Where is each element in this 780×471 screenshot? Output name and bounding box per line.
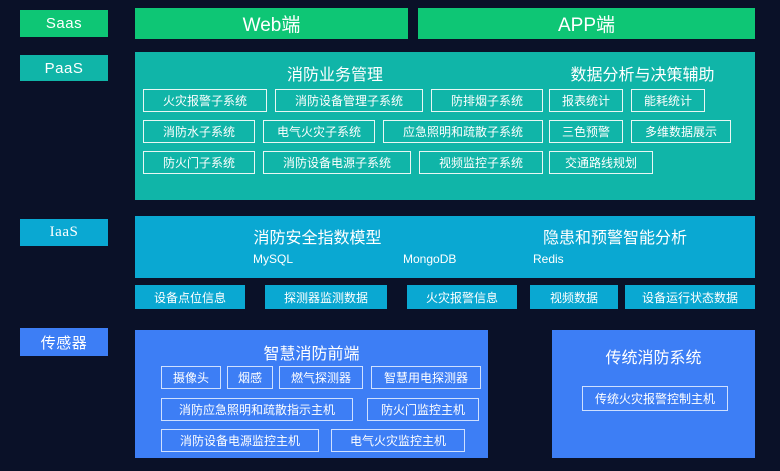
saas-bar-app[interactable]: APP端 xyxy=(418,8,755,39)
paas-chip-report-stats[interactable]: 报表统计 xyxy=(549,89,623,112)
architecture-diagram: Saas Web端 APP端 PaaS 消防业务管理 火灾报警子系统 消防设备管… xyxy=(0,0,780,471)
paas-chip-equipment-power[interactable]: 消防设备电源子系统 xyxy=(263,151,411,174)
paas-chip-multidim-display[interactable]: 多维数据展示 xyxy=(631,120,731,143)
saas-bar-web-label: Web端 xyxy=(243,10,301,37)
paas-chip-traffic-route-planning[interactable]: 交通路线规划 xyxy=(549,151,653,174)
iaas-data-chip-detector-monitoring[interactable]: 探测器监测数据 xyxy=(265,285,387,309)
sensor-group-title-traditional: 传统消防系统 xyxy=(552,344,755,368)
layer-label-paas-text: PaaS xyxy=(45,60,84,77)
iaas-db-mongodb: MongoDB xyxy=(403,252,456,266)
iaas-data-chip-device-location[interactable]: 设备点位信息 xyxy=(135,285,245,309)
paas-chip-fire-door[interactable]: 防火门子系统 xyxy=(143,151,255,174)
sensor-panel-smart-frontend: 智慧消防前端 摄像头 烟感 燃气探测器 智慧用电探测器 消防应急照明和疏散指示主… xyxy=(135,330,488,458)
layer-label-sensor: 传感器 xyxy=(20,328,108,356)
sensor-chip-camera[interactable]: 摄像头 xyxy=(161,366,221,389)
sensor-chip-emergency-lighting-host[interactable]: 消防应急照明和疏散指示主机 xyxy=(161,398,353,421)
iaas-db-mysql: MySQL xyxy=(253,252,293,266)
sensor-chip-smart-electricity-detector[interactable]: 智慧用电探测器 xyxy=(371,366,481,389)
layer-label-saas-text: Saas xyxy=(46,15,82,32)
sensor-panel-traditional-system: 传统消防系统 传统火灾报警控制主机 xyxy=(552,330,755,458)
iaas-data-chip-fire-alarm-info[interactable]: 火灾报警信息 xyxy=(407,285,517,309)
iaas-band: 消防安全指数模型 隐患和预警智能分析 MySQL MongoDB Redis xyxy=(135,216,755,278)
paas-panel: 消防业务管理 火灾报警子系统 消防设备管理子系统 防排烟子系统 消防水子系统 电… xyxy=(135,52,755,200)
sensor-chip-gas-detector[interactable]: 燃气探测器 xyxy=(279,366,363,389)
paas-group-title-analysis: 数据分析与决策辅助 xyxy=(535,61,750,85)
layer-label-iaas-text: IaaS xyxy=(50,224,79,241)
layer-label-iaas: IaaS xyxy=(20,219,108,246)
paas-group-title-business: 消防业务管理 xyxy=(135,61,535,85)
iaas-title-risk-analysis: 隐患和预警智能分析 xyxy=(485,224,745,248)
paas-chip-video-surveillance[interactable]: 视频监控子系统 xyxy=(419,151,543,174)
sensor-chip-traditional-fire-alarm-host[interactable]: 传统火灾报警控制主机 xyxy=(582,386,728,411)
sensor-chip-electrical-fire-host[interactable]: 电气火灾监控主机 xyxy=(331,429,465,452)
paas-chip-fire-water[interactable]: 消防水子系统 xyxy=(143,120,255,143)
paas-chip-tricolor-warning[interactable]: 三色预警 xyxy=(549,120,623,143)
paas-chip-fire-alarm[interactable]: 火灾报警子系统 xyxy=(143,89,267,112)
sensor-group-title-smart-frontend: 智慧消防前端 xyxy=(135,340,488,364)
saas-bar-web[interactable]: Web端 xyxy=(135,8,408,39)
saas-bar-app-label: APP端 xyxy=(558,10,615,37)
paas-chip-emergency-lighting[interactable]: 应急照明和疏散子系统 xyxy=(383,120,543,143)
paas-chip-electrical-fire[interactable]: 电气火灾子系统 xyxy=(263,120,375,143)
sensor-chip-equipment-power-host[interactable]: 消防设备电源监控主机 xyxy=(161,429,319,452)
iaas-data-chip-video-data[interactable]: 视频数据 xyxy=(530,285,618,309)
sensor-chip-smoke-detector[interactable]: 烟感 xyxy=(227,366,273,389)
layer-label-saas: Saas xyxy=(20,10,108,37)
iaas-data-chip-device-runtime-status[interactable]: 设备运行状态数据 xyxy=(625,285,755,309)
paas-chip-equipment-mgmt[interactable]: 消防设备管理子系统 xyxy=(275,89,423,112)
paas-chip-energy-stats[interactable]: 能耗统计 xyxy=(631,89,705,112)
paas-chip-smoke-control[interactable]: 防排烟子系统 xyxy=(431,89,543,112)
iaas-db-redis: Redis xyxy=(533,252,564,266)
sensor-chip-fire-door-host[interactable]: 防火门监控主机 xyxy=(367,398,479,421)
iaas-title-safety-index: 消防安全指数模型 xyxy=(145,224,490,248)
layer-label-paas: PaaS xyxy=(20,55,108,81)
layer-label-sensor-text: 传感器 xyxy=(41,332,88,353)
